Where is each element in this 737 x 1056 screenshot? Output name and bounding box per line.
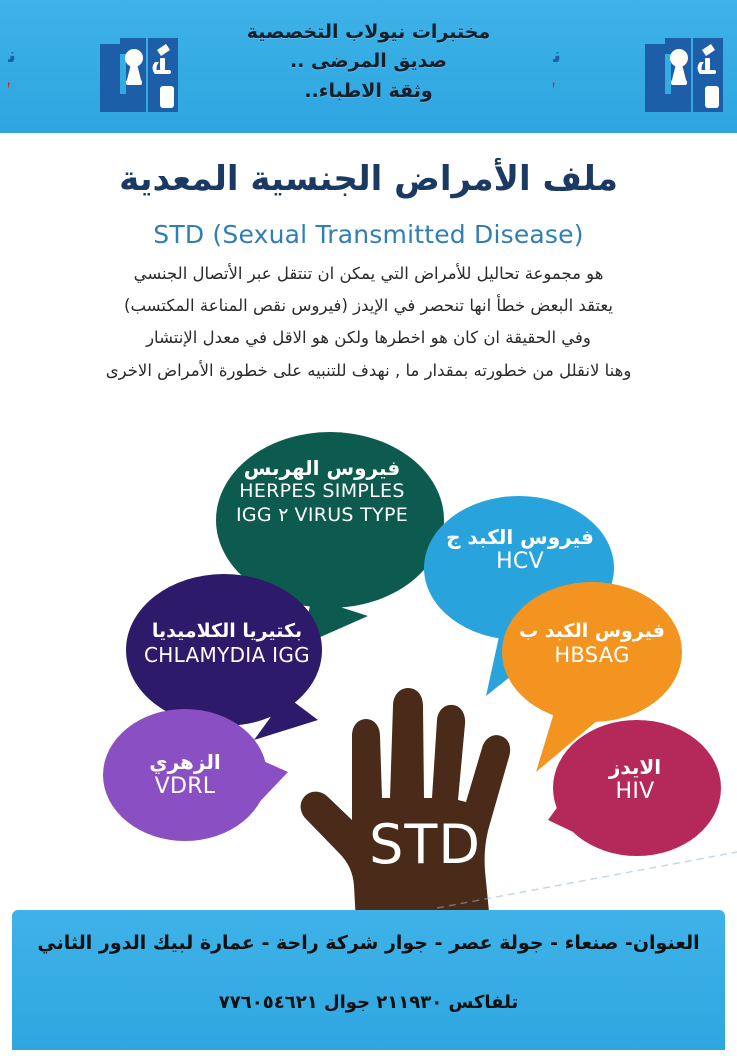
poster-page: نيو لاب new xyxy=(0,0,737,1056)
std-bubble-diagram: فيروس الهربس HERPES SIMPLES IGG ٢ VIRUS … xyxy=(0,420,737,920)
footer-band: العنوان- صنعاء - جولة عصر - جوار شركة را… xyxy=(12,910,725,1050)
bubble-hiv xyxy=(548,720,721,856)
paragraph-line-1: هو مجموعة تحاليل للأمراض التي يمكن ان تن… xyxy=(40,258,697,290)
logo-right: نيو لاب new xyxy=(553,28,729,128)
svg-text:new: new xyxy=(553,70,556,111)
footer-address: العنوان- صنعاء - جولة عصر - جوار شركة را… xyxy=(12,932,725,954)
hand-silhouette xyxy=(301,688,511,920)
page-title-arabic: ملف الأمراض الجنسية المعدية xyxy=(0,160,737,199)
paragraph-line-3: وفي الحقيقة ان كان هو اخطرها ولكن هو الا… xyxy=(40,322,697,354)
svg-text:نيو لاب: نيو لاب xyxy=(553,43,561,67)
page-title-english: STD (Sexual Transmitted Disease) xyxy=(0,220,737,249)
header-band: نيو لاب new xyxy=(0,0,737,133)
footer-phone: تلفاكس ٢١١٩٣٠ جوال ٧٧٦٠٥٤٦٢١ xyxy=(12,992,725,1013)
paragraph-line-2: يعتقد البعض خطأ انها تنحصر في الإيدز (في… xyxy=(40,290,697,322)
paragraph-line-4: وهنا لانقلل من خطورته بمقدار ما , نهدف ل… xyxy=(40,355,697,387)
bubble-vdrl xyxy=(103,709,288,841)
intro-paragraph: هو مجموعة تحاليل للأمراض التي يمكن ان تن… xyxy=(40,258,697,387)
